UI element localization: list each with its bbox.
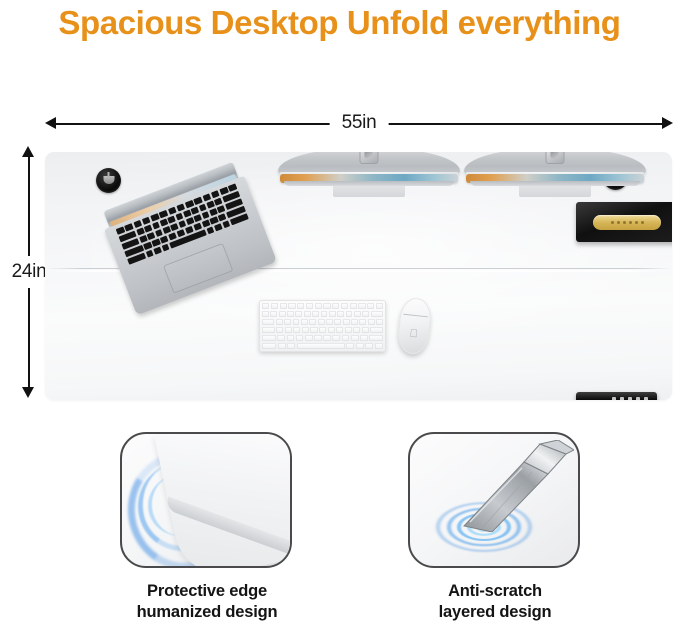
control-button	[636, 397, 640, 400]
grommet-slot	[103, 176, 114, 184]
depth-dimension: 24in	[19, 146, 39, 398]
monitor-right	[464, 152, 646, 198]
control-strip	[576, 392, 657, 400]
feature-protective-edge: Protective edge humanized design	[120, 432, 294, 623]
feature-icon-box	[120, 432, 292, 568]
width-dimension-label: 55in	[330, 112, 389, 134]
control-button	[644, 397, 648, 400]
feature-caption-line2: layered design	[408, 602, 582, 623]
keyboard	[259, 300, 386, 352]
power-box	[576, 202, 672, 242]
feature-anti-scratch: Anti-scratch layered design	[408, 432, 582, 623]
feature-caption: Protective edge humanized design	[120, 581, 294, 623]
desktop-surface: 	[45, 152, 672, 400]
monitor-mount	[360, 152, 379, 164]
control-button	[612, 397, 616, 400]
width-dimension: 55in	[45, 114, 673, 134]
feature-caption: Anti-scratch layered design	[408, 581, 582, 623]
cable-grommet-left-icon	[96, 168, 121, 193]
infographic-canvas: Spacious Desktop Unfold everything 55in …	[0, 0, 679, 626]
arrow-down-icon	[22, 387, 34, 398]
feature-caption-line1: Anti-scratch	[408, 581, 582, 602]
power-box-plate	[593, 215, 661, 230]
blade-ripple-icon	[462, 440, 574, 532]
monitor-lip	[470, 181, 640, 186]
feature-caption-line1: Protective edge	[120, 581, 294, 602]
control-button	[628, 397, 632, 400]
blade-svg	[462, 440, 574, 532]
control-button	[620, 397, 624, 400]
apple-logo-icon: 	[409, 329, 418, 341]
monitor-lip	[284, 181, 454, 186]
monitor-left	[278, 152, 460, 198]
mouse-seam	[403, 314, 428, 318]
feature-icon-box	[408, 432, 580, 568]
arrow-right-icon	[662, 117, 673, 129]
feature-caption-line2: humanized design	[120, 602, 294, 623]
depth-dimension-label: 24in	[12, 256, 47, 288]
monitor-mount	[546, 152, 565, 164]
page-title: Spacious Desktop Unfold everything	[0, 0, 679, 46]
